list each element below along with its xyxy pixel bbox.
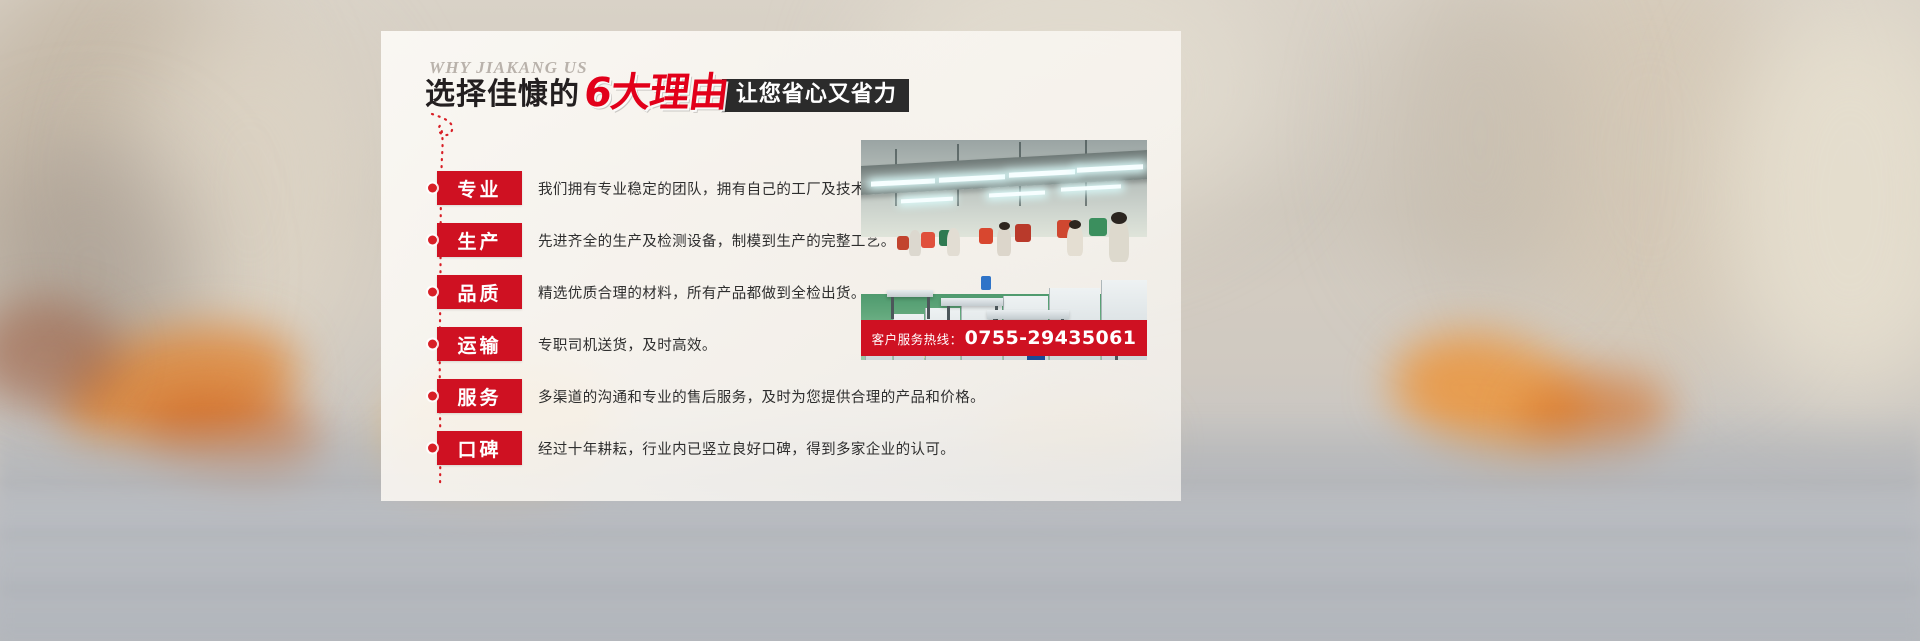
- hotline-bar[interactable]: 客户服务热线： 0755-29435061: [861, 320, 1147, 356]
- heading-highlight: 6大理由: [582, 75, 730, 112]
- heading-prefix-cn: 选择佳慷的: [425, 80, 580, 112]
- bullet-dot-icon: [428, 340, 437, 349]
- bullet-dot-icon: [428, 184, 437, 193]
- hotline-number: 0755-29435061: [965, 327, 1137, 349]
- heading-tag: 让您省心又省力: [722, 79, 909, 112]
- bullet-dot-icon: [428, 236, 437, 245]
- list-item[interactable]: 口碑 经过十年耕耘，行业内已竖立良好口碑，得到多家企业的认可。: [437, 422, 1137, 474]
- reason-chip: 品质: [437, 275, 522, 309]
- reason-description: 多渠道的沟通和专业的售后服务，及时为您提供合理的产品和价格。: [538, 386, 985, 407]
- reason-chip: 生产: [437, 223, 522, 257]
- reason-description: 专职司机送货，及时高效。: [538, 334, 717, 355]
- bullet-dot-icon: [428, 288, 437, 297]
- reason-description: 先进齐全的生产及检测设备，制模到生产的完整工艺。: [538, 230, 896, 251]
- reason-chip: 专业: [437, 171, 522, 205]
- reason-description: 我们拥有专业稳定的团队，拥有自己的工厂及技术。: [538, 178, 881, 199]
- heading-main-row: 选择佳慷的 6大理由 让您省心又省力: [425, 75, 909, 112]
- reason-description: 经过十年耕耘，行业内已竖立良好口碑，得到多家企业的认可。: [538, 438, 955, 459]
- reason-chip: 服务: [437, 379, 522, 413]
- bullet-dot-icon: [428, 392, 437, 401]
- hotline-label: 客户服务热线：: [872, 329, 963, 348]
- reason-description: 精选优质合理的材料，所有产品都做到全检出货。: [538, 282, 866, 303]
- reason-chip: 口碑: [437, 431, 522, 465]
- bullet-dot-icon: [428, 444, 437, 453]
- list-item[interactable]: 服务 多渠道的沟通和专业的售后服务，及时为您提供合理的产品和价格。: [437, 370, 1137, 422]
- reason-chip: 运输: [437, 327, 522, 361]
